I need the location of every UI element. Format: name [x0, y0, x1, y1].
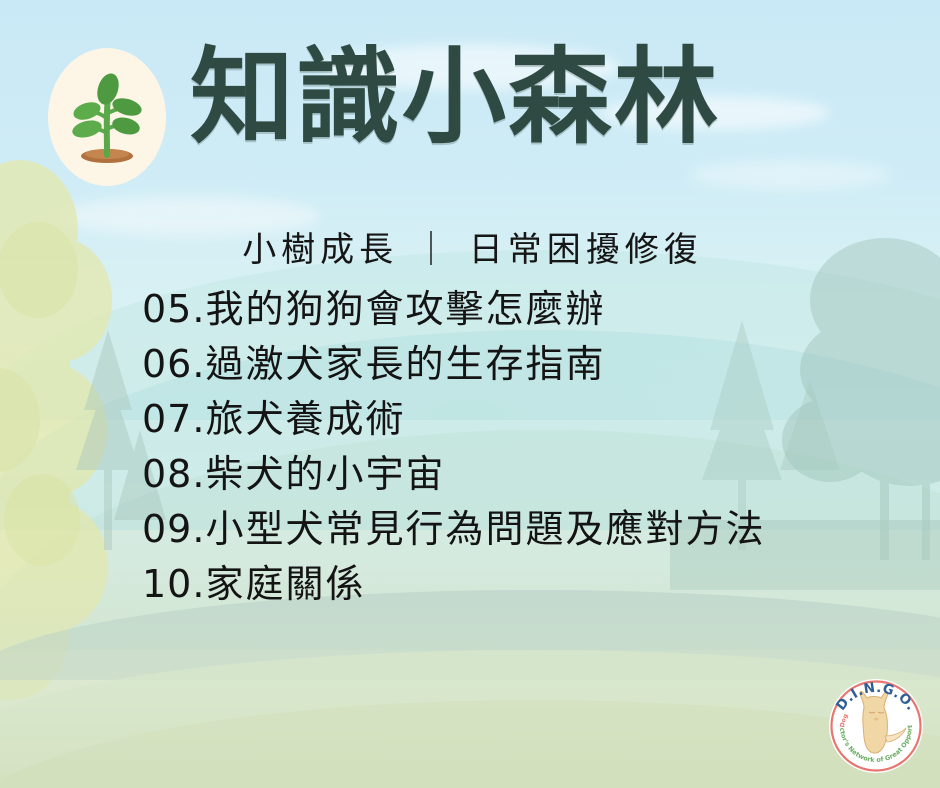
dingo-logo-badge[interactable]: D.I.N.G.O. Dog Instructor's Network of G… — [824, 674, 928, 778]
list-item-number: 05. — [142, 287, 205, 331]
topic-list: 05.我的狗狗會攻擊怎麼辦 06.過激犬家長的生存指南 07.旅犬養成術 08.… — [142, 282, 922, 612]
page-title: 知識小森林 — [190, 38, 720, 158]
list-item[interactable]: 05.我的狗狗會攻擊怎麼辦 — [142, 282, 922, 337]
header: 知識小森林 — [0, 0, 940, 190]
dingo-logo-icon: D.I.N.G.O. Dog Instructor's Network of G… — [824, 674, 928, 778]
list-item[interactable]: 07.旅犬養成術 — [142, 392, 922, 447]
list-item-number: 06. — [142, 342, 205, 386]
list-item[interactable]: 09.小型犬常見行為問題及應對方法 — [142, 502, 922, 557]
logo-badge — [48, 48, 166, 186]
list-item-label: 旅犬養成術 — [205, 397, 405, 441]
list-item-label: 過激犬家長的生存指南 — [205, 342, 605, 386]
subtitle: 小樹成長 ｜ 日常困擾修復 — [0, 222, 940, 271]
list-item-label: 小型犬常見行為問題及應對方法 — [205, 507, 765, 551]
list-item[interactable]: 10.家庭關係 — [142, 557, 922, 612]
list-item[interactable]: 08.柴犬的小宇宙 — [142, 447, 922, 502]
list-item-number: 09. — [142, 507, 205, 551]
list-item-label: 家庭關係 — [205, 562, 365, 606]
list-item-number: 08. — [142, 452, 205, 496]
list-item-number: 10. — [142, 562, 205, 606]
seedling-icon — [68, 69, 146, 165]
list-item-number: 07. — [142, 397, 205, 441]
list-item-label: 柴犬的小宇宙 — [205, 452, 445, 496]
slide-canvas: 知識小森林 小樹成長 ｜ 日常困擾修復 05.我的狗狗會攻擊怎麼辦 06.過激犬… — [0, 0, 940, 788]
list-item[interactable]: 06.過激犬家長的生存指南 — [142, 337, 922, 392]
list-item-label: 我的狗狗會攻擊怎麼辦 — [205, 287, 605, 331]
